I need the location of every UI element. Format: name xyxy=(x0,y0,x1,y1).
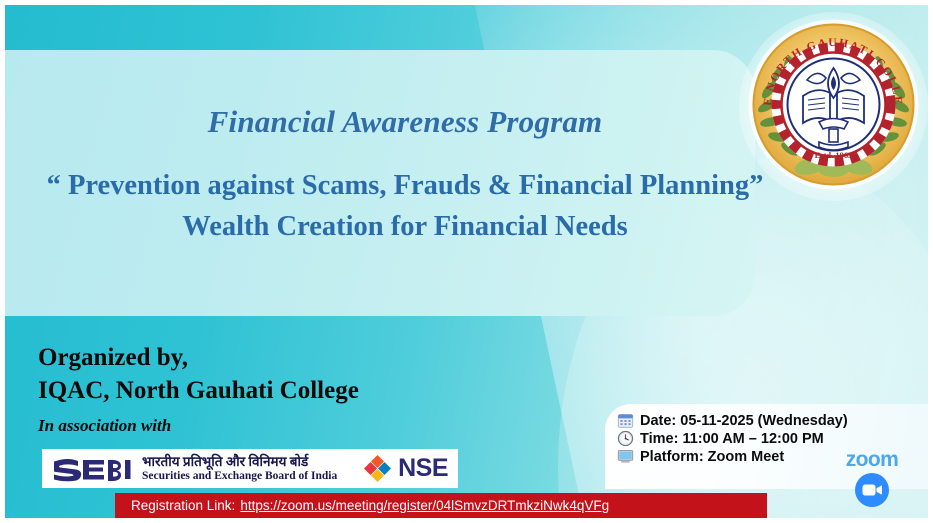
page-title: Financial Awareness Program xyxy=(5,105,805,139)
detail-row-time: Time: 11:00 AM – 12:00 PM xyxy=(617,430,933,447)
zoom-camera-icon xyxy=(854,472,890,508)
subtitle-line-2: Wealth Creation for Financial Needs xyxy=(5,206,805,247)
detail-row-date: Date: 05-11-2025 (Wednesday) xyxy=(617,412,933,429)
organizer-name: IQAC, North Gauhati College xyxy=(38,374,558,407)
calendar-icon xyxy=(617,412,634,429)
subtitle-line-1: “ Prevention against Scams, Frauds & Fin… xyxy=(5,165,805,206)
sebi-name-english: Securities and Exchange Board of India xyxy=(142,470,337,482)
nse-logo: NSE xyxy=(364,454,452,483)
organized-by-label: Organized by, xyxy=(38,341,558,374)
poster-canvas: Financial Awareness Program “ Prevention… xyxy=(0,0,933,523)
registration-bar[interactable]: Registration Link: https://zoom.us/meeti… xyxy=(115,493,767,518)
college-seal-icon: THE NORTH GAUHATI COLLEGE xyxy=(747,18,920,191)
sebi-name-hindi: भारतीय प्रतिभूति और विनिमय बोर्ड xyxy=(142,455,337,469)
organizer-block: Organized by, IQAC, North Gauhati Colleg… xyxy=(38,341,558,436)
registration-link[interactable]: https://zoom.us/meeting/register/04lSmvz… xyxy=(240,498,609,513)
detail-date-text: Date: 05-11-2025 (Wednesday) xyxy=(640,413,848,429)
svg-text:Estd. 1963: Estd. 1963 xyxy=(815,150,853,160)
sebi-logo-icon xyxy=(54,456,132,482)
zoom-wordmark: zoom xyxy=(836,449,908,470)
nse-diamond-icon xyxy=(364,455,391,482)
detail-time-text: Time: 11:00 AM – 12:00 PM xyxy=(640,431,824,447)
partner-logo-strip: भारतीय प्रतिभूति और विनिमय बोर्ड Securit… xyxy=(42,449,458,488)
title-block: Financial Awareness Program “ Prevention… xyxy=(5,105,805,248)
college-logo: THE NORTH GAUHATI COLLEGE xyxy=(747,18,920,191)
nse-wordmark: NSE xyxy=(398,454,448,483)
association-label: In association with xyxy=(38,416,558,436)
registration-label: Registration Link: xyxy=(131,498,235,513)
computer-icon xyxy=(617,448,634,465)
zoom-brand: zoom xyxy=(836,449,908,513)
clock-icon xyxy=(617,430,634,447)
event-details-card: Date: 05-11-2025 (Wednesday) Time: 11:00… xyxy=(605,404,933,489)
detail-platform-text: Platform: Zoom Meet xyxy=(640,449,784,465)
sebi-name: भारतीय प्रतिभूति और विनिमय बोर्ड Securit… xyxy=(142,455,337,481)
